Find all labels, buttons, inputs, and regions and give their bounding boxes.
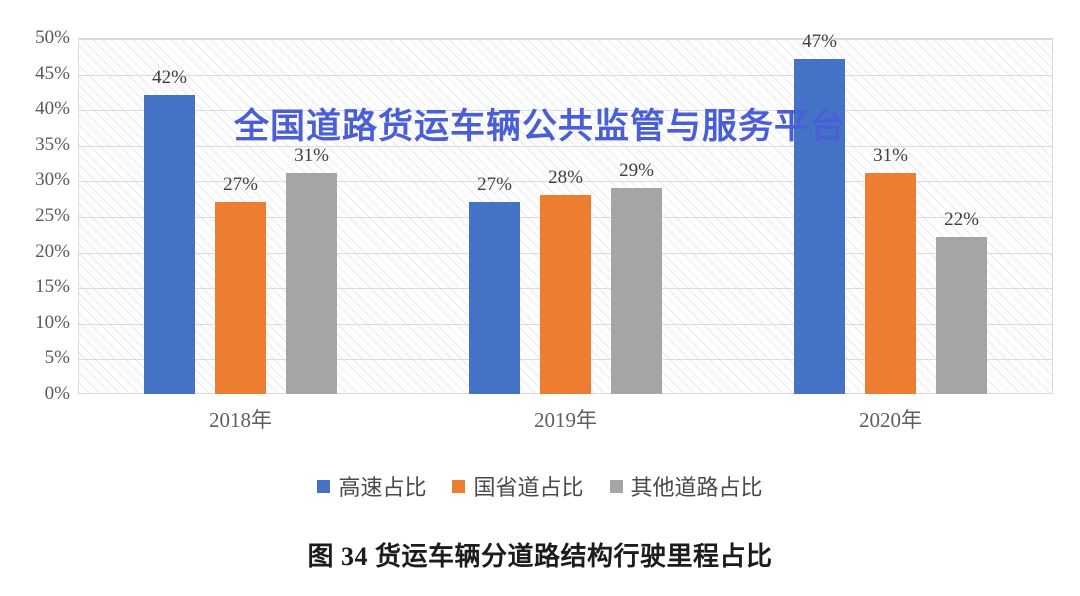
legend-item[interactable]: 高速占比 <box>317 470 426 502</box>
x-tick-label: 2018年 <box>209 404 272 434</box>
legend-label: 国省道占比 <box>473 470 583 502</box>
gridline <box>79 359 1052 360</box>
y-tick-label: 30% <box>35 169 70 191</box>
gridline <box>79 253 1052 254</box>
y-tick-label: 20% <box>35 241 70 263</box>
chart-figure: 0%5%10%15%20%25%30%35%40%45%50% 42%27%31… <box>0 0 1080 596</box>
y-tick-label: 50% <box>35 27 70 49</box>
legend-swatch-icon <box>452 480 465 493</box>
gridline <box>79 324 1052 325</box>
y-tick-label: 5% <box>45 347 70 369</box>
x-axis: 2018年2019年2020年 <box>78 404 1053 440</box>
y-tick-label: 35% <box>35 134 70 156</box>
gridline <box>79 39 1052 40</box>
gridline <box>79 181 1052 182</box>
legend-swatch-icon <box>317 480 330 493</box>
gridline <box>79 75 1052 76</box>
y-tick-label: 45% <box>35 63 70 85</box>
gridline <box>79 146 1052 147</box>
chart-legend: 高速占比国省道占比其他道路占比 <box>0 470 1080 502</box>
y-tick-label: 15% <box>35 276 70 298</box>
y-axis: 0%5%10%15%20%25%30%35%40%45%50% <box>0 38 70 394</box>
figure-caption: 图 34 货运车辆分道路结构行驶里程占比 <box>0 536 1080 573</box>
legend-item[interactable]: 其他道路占比 <box>610 470 763 502</box>
y-tick-label: 25% <box>35 205 70 227</box>
legend-label: 其他道路占比 <box>631 470 763 502</box>
plot-area <box>78 38 1053 394</box>
gridline <box>79 288 1052 289</box>
legend-item[interactable]: 国省道占比 <box>452 470 583 502</box>
y-tick-label: 10% <box>35 312 70 334</box>
x-tick-label: 2020年 <box>859 404 922 434</box>
gridline <box>79 110 1052 111</box>
legend-swatch-icon <box>610 480 623 493</box>
y-tick-label: 40% <box>35 98 70 120</box>
legend-label: 高速占比 <box>338 470 426 502</box>
x-tick-label: 2019年 <box>534 404 597 434</box>
gridline <box>79 217 1052 218</box>
y-tick-label: 0% <box>45 383 70 405</box>
